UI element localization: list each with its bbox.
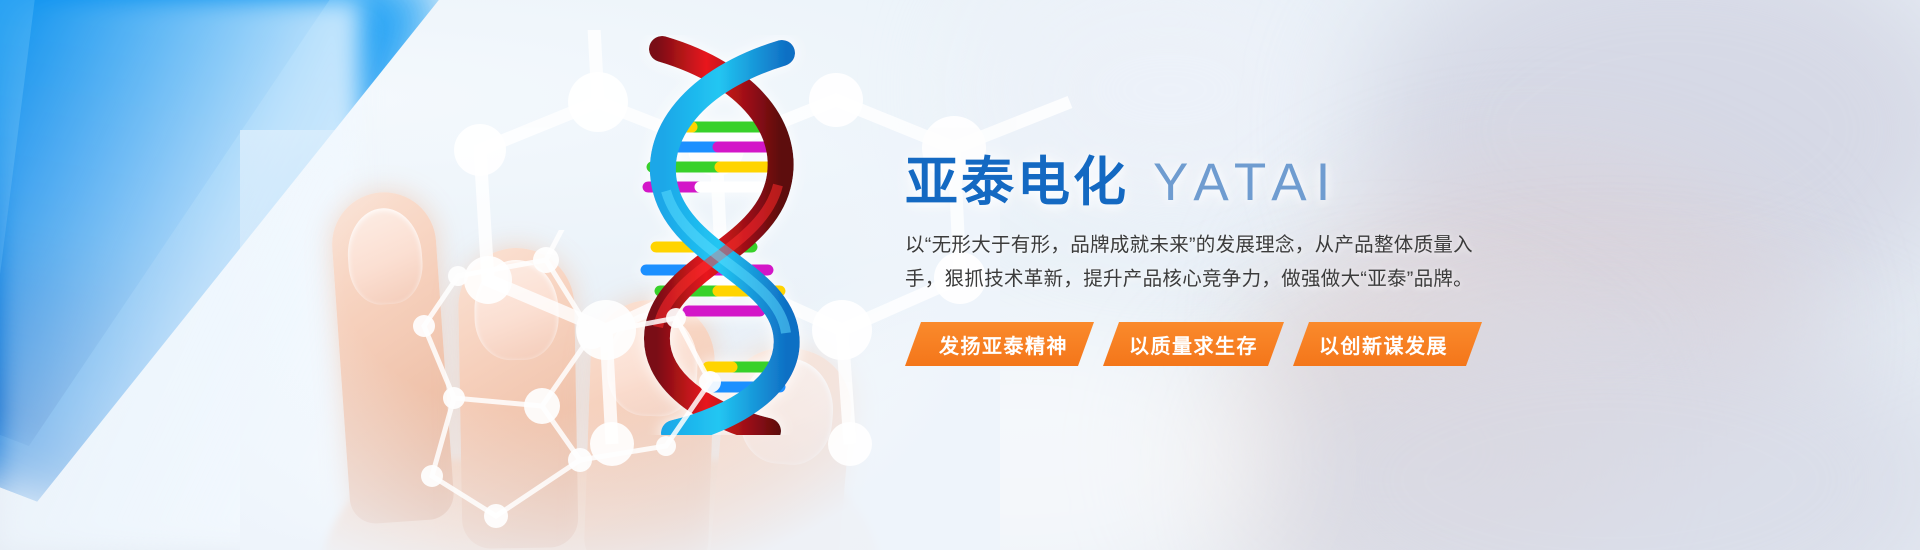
fingernail-1 (345, 206, 426, 307)
dna-double-helix-icon (600, 35, 830, 435)
subtitle-line-1: 以“无形大于有形，品牌成就未来”的发展理念，从产品整体质量入 (905, 228, 1525, 262)
slogan-tag-2[interactable]: 以质量求生存 (1103, 322, 1284, 366)
banner-title-cn: 亚泰电化 (905, 153, 1129, 212)
banner-title: 亚泰电化YATAI (905, 140, 1339, 216)
slogan-tag-list: 发扬亚泰精神 以质量求生存 以创新谋发展 (905, 322, 1482, 366)
fingernail-2 (474, 259, 560, 360)
slogan-tag-3[interactable]: 以创新谋发展 (1293, 322, 1482, 366)
slogan-tag-1[interactable]: 发扬亚泰精神 (905, 322, 1094, 366)
finger-1 (329, 189, 456, 525)
hero-banner: 亚泰电化YATAI 以“无形大于有形，品牌成就未来”的发展理念，从产品整体质量入… (0, 0, 1920, 550)
banner-title-en: YATAI (1153, 153, 1339, 212)
banner-subtitle: 以“无形大于有形，品牌成就未来”的发展理念，从产品整体质量入 手，狠抓技术革新，… (905, 228, 1525, 296)
subtitle-line-2: 手，狠抓技术革新，提升产品核心竞争力，做强做大“亚泰”品牌。 (905, 262, 1525, 296)
finger-2 (457, 247, 578, 549)
